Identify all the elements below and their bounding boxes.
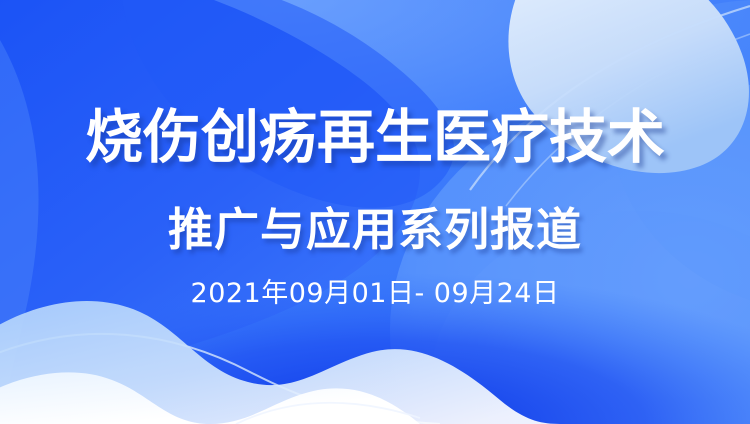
banner-date-range: 2021年09月01日- 09月24日	[0, 278, 750, 310]
banner-text-layer: 烧伤创疡再生医疗技术 推广与应用系列报道 2021年09月01日- 09月24日	[0, 0, 750, 424]
promo-banner: 烧伤创疡再生医疗技术 推广与应用系列报道 2021年09月01日- 09月24日	[0, 0, 750, 424]
banner-title-subtitle: 推广与应用系列报道	[0, 204, 750, 256]
banner-title-main: 烧伤创疡再生医疗技术	[0, 104, 750, 170]
